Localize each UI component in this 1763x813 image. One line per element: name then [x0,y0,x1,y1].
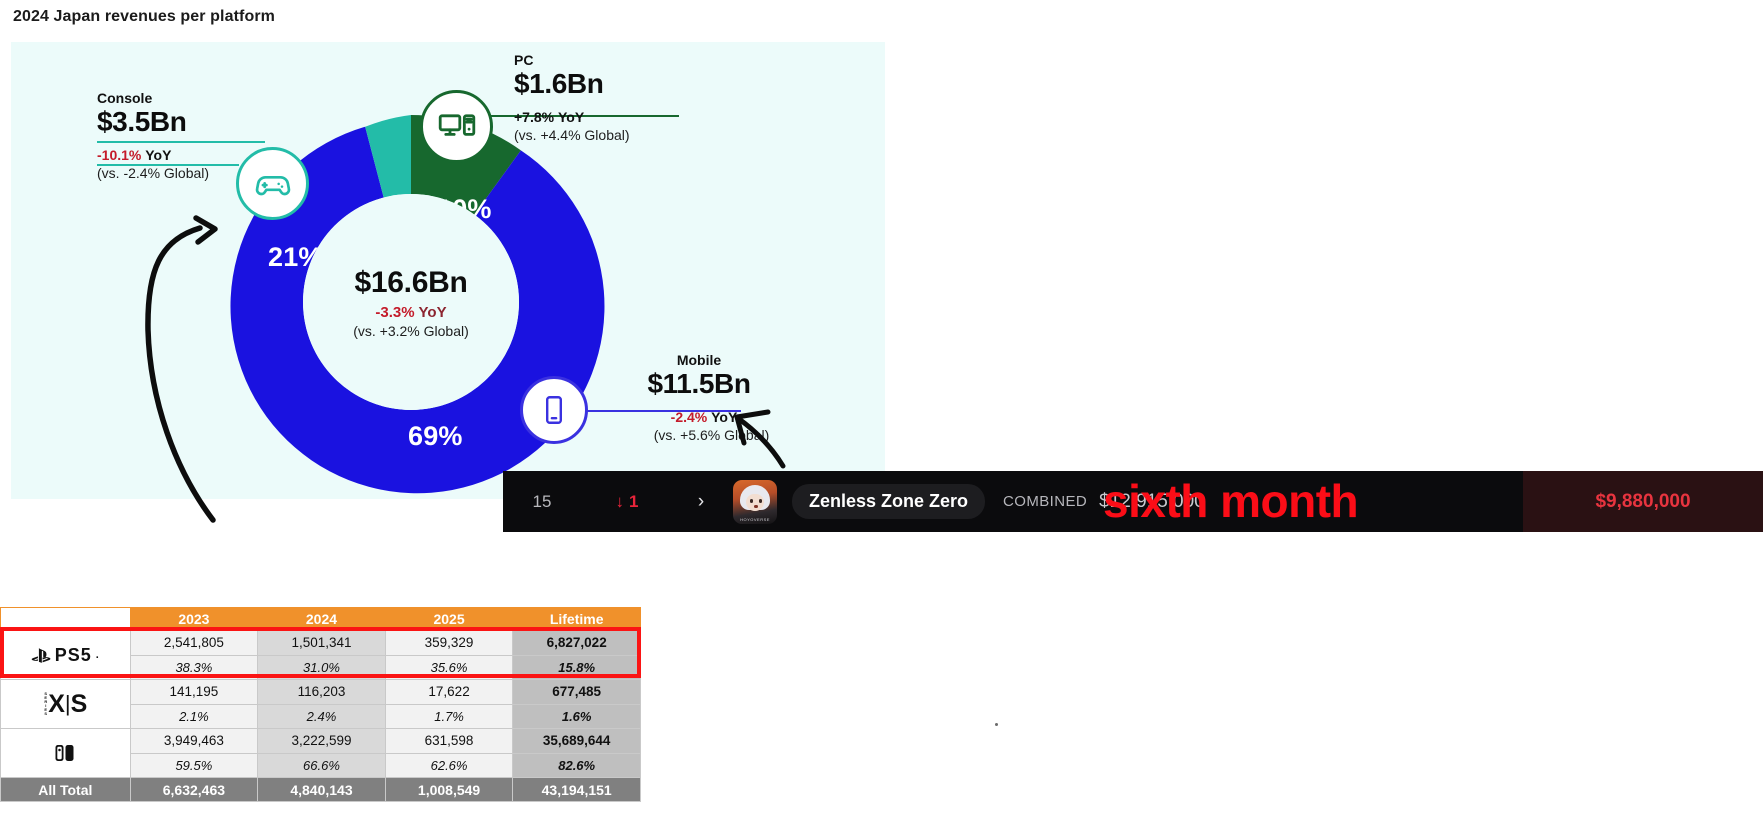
total-2024: 4,840,143 [258,778,386,802]
callout-pc-yoy-pct: +7.8% [514,109,554,125]
table-row[interactable]: PS5. 2,541,805 1,501,341 359,329 6,827,0… [1,631,641,656]
game-thumbnail[interactable]: HOYOVERSE [733,480,777,524]
callout-console-yoy: -10.1% YoY [97,147,257,165]
cell-xbox-lifetime-share: 1.6% [513,704,641,729]
rank-delta-arrow-icon: ↓ [616,492,625,512]
playstation-ps-icon [31,647,51,664]
table-row[interactable]: 3,949,463 3,222,599 631,598 35,689,644 [1,729,641,754]
thumbnail-eye-left [750,499,753,503]
game-name-chip[interactable]: Zenless Zone Zero [792,484,985,519]
total-revenue-value: $16.6Bn [355,266,468,300]
cell-switch-lifetime-share: 82.6% [513,753,641,778]
platform-sales-table: Current 2023 2024 2025 Lifetime PS5. [0,607,641,802]
cell-ps5-lifetime-share: 15.8% [513,655,641,680]
callout-console-yoy-pct: -10.1% [97,147,141,163]
column-header-2024[interactable]: 2024 [258,608,386,631]
callout-mobile-amount: $11.5Bn [624,369,774,400]
callout-console-rule [97,141,265,143]
table-total-row: All Total 6,632,463 4,840,143 1,008,549 … [1,778,641,802]
cell-xbox-2025-units: 17,622 [385,680,513,705]
donut-center-total: $16.6Bn -3.3% YoY (vs. +3.2% Global) [303,194,519,410]
secondary-revenue-value: $9,880,000 [1523,471,1763,532]
total-yoy: -3.3% YoY [375,304,446,321]
callout-mobile-yoy-suffix: YoY [711,409,737,425]
rank-delta-value: 1 [629,492,638,512]
column-header-lifetime[interactable]: Lifetime [513,608,641,631]
callout-mobile-yoy: -2.4% YoY [624,409,784,427]
cell-ps5-2024-units: 1,501,341 [258,631,386,656]
playstation-5-logo: PS5. [1,631,131,680]
callout-mobile-rule [624,403,814,405]
callout-console-vs-global: (vs. -2.4% Global) [97,164,257,182]
callout-mobile-category: Mobile [624,352,774,369]
rank-value: 15 [503,492,581,512]
cell-ps5-2023-share: 38.3% [130,655,258,680]
total-yoy-suffix: YoY [419,304,447,321]
table-row[interactable]: SERIES X | S 141,195 116,203 17,622 677,… [1,680,641,705]
callout-mobile-yoy-pct: -2.4% [671,409,708,425]
cell-xbox-2023-share: 2.1% [130,704,258,729]
callout-console-amount: $3.5Bn [97,107,257,138]
thumbnail-brand-label: HOYOVERSE [733,517,777,522]
total-yoy-pct: -3.3% [375,304,414,321]
cell-switch-2025-units: 631,598 [385,729,513,754]
cell-xbox-lifetime-units: 677,485 [513,680,641,705]
chevron-right-icon[interactable]: › [673,491,729,513]
smartphone-icon [520,376,588,444]
total-vs-global: (vs. +3.2% Global) [353,323,469,339]
total-2025: 1,008,549 [385,778,513,802]
cell-ps5-2023-units: 2,541,805 [130,631,258,656]
thumbnail-mouth [754,505,758,508]
switch-icon [53,743,77,763]
total-row-label: All Total [1,778,131,802]
table-header-row: Current 2023 2024 2025 Lifetime [1,608,641,631]
handdrawn-text-annotation: sixth month [1103,473,1358,530]
column-header-2025[interactable]: 2025 [385,608,513,631]
rank-delta: ↓ 1 [581,492,673,512]
column-header-current[interactable]: Current [1,608,131,631]
revenue-donut-infographic: 10% 21% 69% $16.6Bn -3.3% YoY (vs. +3.2%… [11,42,885,499]
cell-ps5-2025-units: 359,329 [385,631,513,656]
total-lifetime: 43,194,151 [513,778,641,802]
total-2023: 6,632,463 [130,778,258,802]
callout-pc-yoy: +7.8% YoY [514,109,694,127]
cell-xbox-2025-share: 1.7% [385,704,513,729]
xbox-series-xs-logo: SERIES X | S [1,680,131,729]
callout-pc-amount: $1.6Bn [514,69,694,100]
cell-ps5-2024-share: 31.0% [258,655,386,680]
cell-ps5-lifetime-units: 6,827,022 [513,631,641,656]
callout-console-category: Console [97,90,257,107]
stray-cursor-dot [995,723,998,726]
cell-switch-lifetime-units: 35,689,644 [513,729,641,754]
thumbnail-eye-right [759,499,762,503]
column-header-2023[interactable]: 2023 [130,608,258,631]
callout-pc-category: PC [514,52,694,69]
callout-console-yoy-suffix: YoY [145,147,171,163]
page-title: 2024 Japan revenues per platform [13,8,275,26]
nintendo-switch-logo [1,729,131,778]
cell-switch-2025-share: 62.6% [385,753,513,778]
desktop-icon [420,90,493,163]
callout-mobile-vs-global: (vs. +5.6% Global) [624,426,799,444]
cell-xbox-2024-units: 116,203 [258,680,386,705]
cell-switch-2024-share: 66.6% [258,753,386,778]
cell-switch-2024-units: 3,222,599 [258,729,386,754]
callout-pc-yoy-suffix: YoY [558,109,584,125]
cell-xbox-2023-units: 141,195 [130,680,258,705]
combined-label: COMBINED [1003,493,1087,510]
callout-console: Console $3.5Bn -10.1% YoY (vs. -2.4% Glo… [97,90,257,182]
callout-mobile: Mobile $11.5Bn -2.4% YoY (vs. +5.6% Glob… [624,352,814,444]
cell-ps5-2025-share: 35.6% [385,655,513,680]
donut-label-mobile: 69% [408,421,463,452]
callout-pc: PC $1.6Bn +7.8% YoY (vs. +4.4% Global) [514,52,694,144]
cell-switch-2023-units: 3,949,463 [130,729,258,754]
cell-switch-2023-share: 59.5% [130,753,258,778]
cell-xbox-2024-share: 2.4% [258,704,386,729]
callout-pc-vs-global: (vs. +4.4% Global) [514,126,694,144]
game-revenue-overlay-row[interactable]: 15 ↓ 1 › HOYOVERSE Zenless Zone Zero COM… [503,471,1763,532]
